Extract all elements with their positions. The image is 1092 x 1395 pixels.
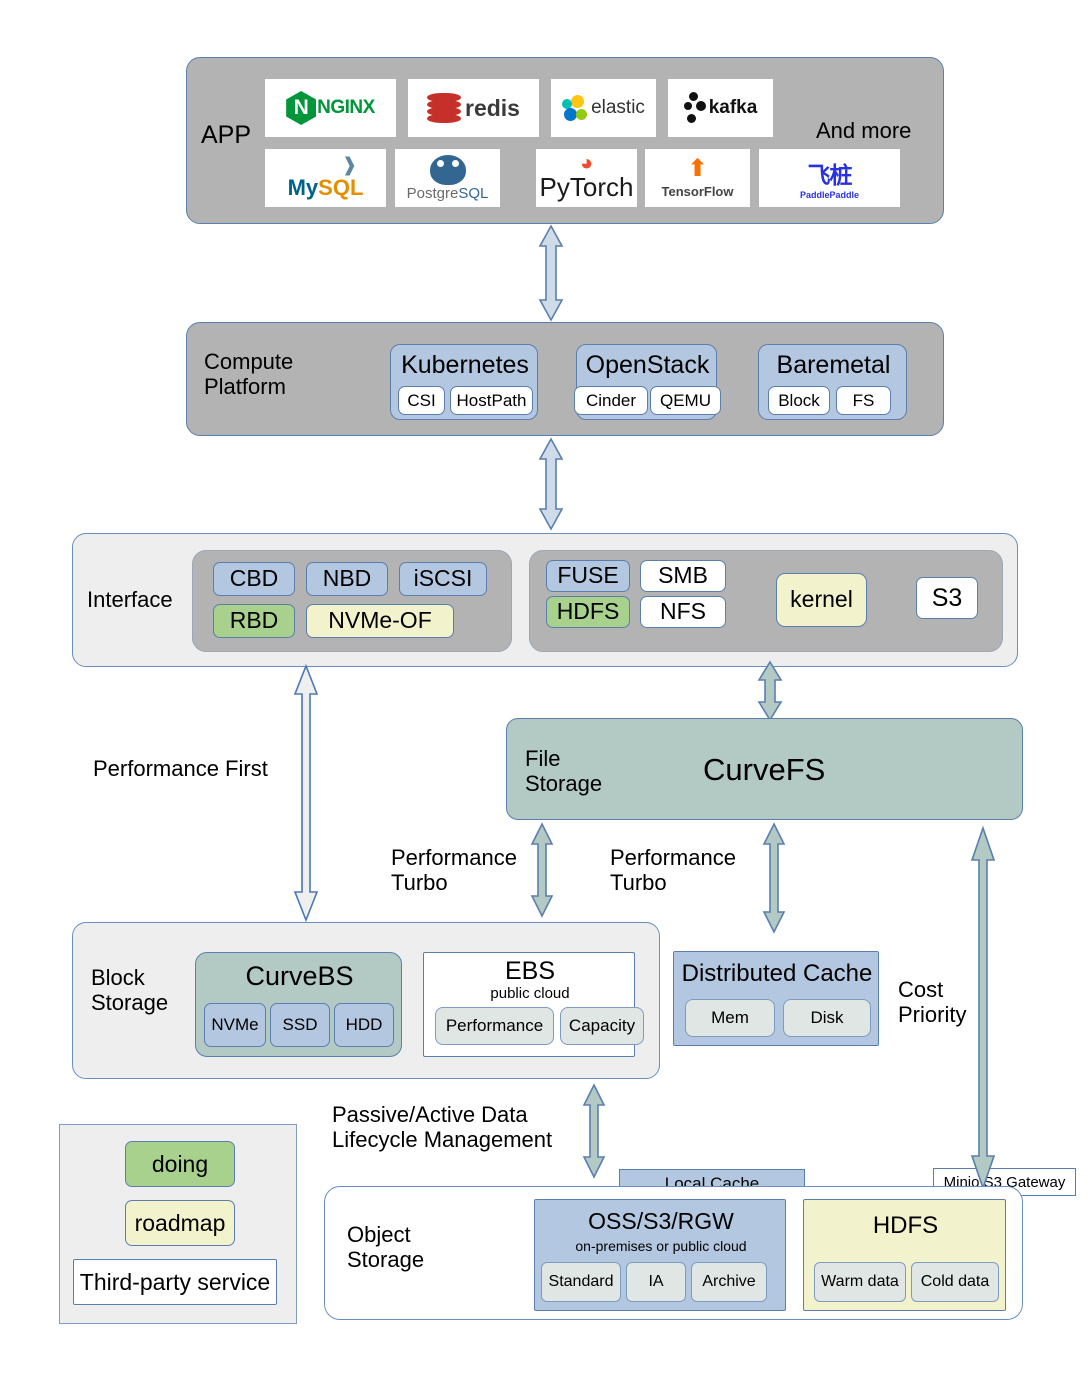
paddlepaddle-icon: 飞桩	[808, 156, 852, 190]
tensorflow-logo-text: TensorFlow	[662, 184, 734, 199]
block-storage-label-line2: Storage	[91, 990, 168, 1015]
interface-s3[interactable]: S3	[916, 577, 978, 619]
distributed-cache-title: Distributed Cache	[674, 958, 880, 990]
performance-turbo-left-line2: Turbo	[391, 871, 517, 896]
distributed-cache-child-mem[interactable]: Mem	[685, 999, 775, 1037]
nginx-logo-tile: N NGINX	[265, 79, 396, 137]
postgresql-logo-tile: PostgreSQL	[395, 149, 500, 207]
performance-turbo-right-label: Performance Turbo	[610, 846, 736, 895]
arrow-compute-interface	[538, 437, 564, 531]
curvebs-child-ssd[interactable]: SSD	[270, 1003, 330, 1047]
postgresql-logo-text: PostgreSQL	[407, 185, 489, 202]
object-storage-label-line2: Storage	[347, 1247, 424, 1272]
interface-fuse[interactable]: FUSE	[546, 560, 630, 592]
file-storage-panel: File Storage CurveFS	[506, 718, 1023, 820]
hdfs-child-cold-data[interactable]: Cold data	[911, 1262, 999, 1302]
block-storage-label: Block Storage	[91, 965, 168, 1016]
legend-panel: doing roadmap Third-party service	[59, 1124, 297, 1324]
platform-openstack-child-cinder[interactable]: Cinder	[574, 386, 648, 415]
pytorch-flame-icon: ◕	[580, 153, 593, 173]
platform-kubernetes-child-csi[interactable]: CSI	[398, 386, 445, 415]
cost-priority-label: Cost Priority	[898, 978, 966, 1027]
interface-kernel[interactable]: kernel	[776, 573, 867, 627]
legend-item-third-party: Third-party service	[73, 1259, 277, 1305]
ebs-subtitle: public cloud	[424, 984, 636, 1002]
interface-hdfs[interactable]: HDFS	[546, 596, 630, 628]
arrow-performance-turbo-right	[762, 822, 786, 934]
oss-s3-rgw-subtitle: on-premises or public cloud	[535, 1236, 787, 1256]
platform-baremetal-child-fs[interactable]: FS	[836, 386, 891, 415]
interface-block-group: CBD NBD iSCSI RBD NVMe-OF	[192, 550, 512, 652]
elastic-logo-text: elastic	[591, 97, 645, 119]
postgresql-elephant-icon	[430, 155, 466, 185]
app-layer-panel: APP N NGINX redis elastic	[186, 57, 944, 224]
cost-priority-line1: Cost	[898, 978, 966, 1003]
ebs-child-capacity[interactable]: Capacity	[560, 1007, 644, 1045]
object-storage-label: Object Storage	[347, 1222, 424, 1273]
interface-cbd[interactable]: CBD	[213, 562, 295, 596]
and-more-label: And more	[816, 118, 911, 144]
compute-platform-label: Compute Platform	[204, 349, 293, 400]
arrow-app-compute	[538, 224, 564, 322]
arrow-performance-first	[293, 664, 319, 922]
tensorflow-logo-tile: ⬆ TensorFlow	[645, 149, 750, 207]
interface-label: Interface	[87, 587, 173, 612]
block-storage-label-line1: Block	[91, 965, 168, 990]
legend-item-doing: doing	[125, 1141, 235, 1187]
curvebs-title: CurveBS	[196, 959, 403, 993]
ebs-box[interactable]: EBS public cloud Performance Capacity	[423, 952, 635, 1057]
platform-baremetal[interactable]: Baremetal Block FS	[758, 344, 907, 420]
ebs-title: EBS	[424, 956, 636, 986]
hdfs-child-warm-data[interactable]: Warm data	[814, 1262, 906, 1302]
interface-nfs[interactable]: NFS	[640, 596, 726, 628]
paddlepaddle-logo-text: PaddlePaddle	[800, 190, 859, 200]
interface-smb[interactable]: SMB	[640, 560, 726, 592]
legend-item-roadmap: roadmap	[125, 1200, 235, 1246]
data-lifecycle-label: Passive/Active Data Lifecycle Management	[332, 1103, 552, 1152]
platform-openstack-child-qemu[interactable]: QEMU	[650, 386, 721, 415]
object-storage-label-line1: Object	[347, 1222, 424, 1247]
pytorch-logo-text: PyTorch	[540, 172, 634, 203]
kafka-logo-tile: kafka	[668, 79, 773, 137]
kafka-icon	[684, 92, 706, 124]
oss-s3-rgw-box[interactable]: OSS/S3/RGW on-premises or public cloud S…	[534, 1199, 786, 1311]
distributed-cache-child-disk[interactable]: Disk	[783, 999, 871, 1037]
interface-nbd[interactable]: NBD	[306, 562, 388, 596]
arrow-interface-curvefs	[757, 660, 783, 722]
performance-turbo-right-line1: Performance	[610, 846, 736, 871]
compute-platform-label-line1: Compute	[204, 349, 293, 374]
platform-kubernetes[interactable]: Kubernetes CSI HostPath	[390, 344, 538, 420]
hdfs-title: HDFS	[804, 1210, 1007, 1242]
file-storage-label: File Storage	[525, 746, 602, 797]
mysql-logo-tile: ❱ MySQL	[265, 149, 386, 207]
cost-priority-line2: Priority	[898, 1003, 966, 1028]
platform-kubernetes-child-hostpath[interactable]: HostPath	[450, 386, 533, 415]
hdfs-box[interactable]: HDFS Warm data Cold data	[803, 1199, 1006, 1311]
oss-child-archive[interactable]: Archive	[691, 1262, 767, 1302]
platform-openstack[interactable]: OpenStack Cinder QEMU	[576, 344, 717, 420]
performance-turbo-right-line2: Turbo	[610, 871, 736, 896]
interface-iscsi[interactable]: iSCSI	[399, 562, 487, 596]
pytorch-logo-tile: ◕ PyTorch	[536, 149, 637, 207]
platform-baremetal-child-block[interactable]: Block	[768, 386, 830, 415]
performance-turbo-left-label: Performance Turbo	[391, 846, 517, 895]
file-storage-label-line1: File	[525, 746, 602, 771]
tensorflow-icon: ⬆	[687, 157, 707, 181]
redis-logo-text: redis	[465, 95, 520, 122]
arrow-cost-priority	[970, 826, 996, 1190]
block-storage-panel: Block Storage CurveBS NVMe SSD HDD EBS p…	[72, 922, 660, 1079]
performance-turbo-left-line1: Performance	[391, 846, 517, 871]
kafka-logo-text: kafka	[709, 97, 758, 119]
interface-nvme-of[interactable]: NVMe-OF	[306, 604, 454, 638]
arrow-data-lifecycle	[582, 1083, 606, 1179]
nginx-logo-text: NGINX	[317, 97, 375, 119]
data-lifecycle-line1: Passive/Active Data	[332, 1103, 552, 1128]
mysql-logo-text: MySQL	[288, 175, 364, 201]
nginx-icon: N	[286, 91, 316, 125]
oss-s3-rgw-title: OSS/S3/RGW	[535, 1206, 787, 1236]
curvefs-title: CurveFS	[703, 752, 825, 788]
curvebs-box[interactable]: CurveBS NVMe SSD HDD	[195, 952, 402, 1057]
interface-panel: Interface CBD NBD iSCSI RBD NVMe-OF FUSE…	[72, 533, 1018, 667]
data-lifecycle-line2: Lifecycle Management	[332, 1128, 552, 1153]
ebs-child-performance[interactable]: Performance	[435, 1007, 554, 1045]
object-storage-panel: Object Storage OSS/S3/RGW on-premises or…	[324, 1186, 1023, 1320]
curvebs-child-hdd[interactable]: HDD	[334, 1003, 394, 1047]
elastic-logo-tile: elastic	[551, 79, 656, 137]
platform-baremetal-title: Baremetal	[759, 350, 908, 380]
distributed-cache-box[interactable]: Distributed Cache Mem Disk	[673, 951, 879, 1046]
platform-kubernetes-title: Kubernetes	[391, 350, 539, 380]
paddlepaddle-logo-tile: 飞桩 PaddlePaddle	[759, 149, 900, 207]
compute-platform-panel: Compute Platform Kubernetes CSI HostPath…	[186, 322, 944, 436]
mysql-dolphin-icon: ❱	[341, 156, 357, 175]
redis-icon	[427, 93, 461, 123]
performance-first-label: Performance First	[93, 757, 268, 782]
oss-child-ia[interactable]: IA	[626, 1262, 686, 1302]
interface-rbd[interactable]: RBD	[213, 604, 295, 638]
arrow-performance-turbo-left	[530, 822, 554, 918]
redis-logo-tile: redis	[408, 79, 539, 137]
oss-child-standard[interactable]: Standard	[541, 1262, 621, 1302]
interface-file-group: FUSE SMB HDFS NFS kernel S3	[529, 550, 1003, 652]
compute-platform-label-line2: Platform	[204, 374, 293, 399]
file-storage-label-line2: Storage	[525, 771, 602, 796]
app-layer-label: APP	[201, 121, 251, 150]
curvebs-child-nvme[interactable]: NVMe	[204, 1003, 266, 1047]
platform-openstack-title: OpenStack	[577, 350, 718, 380]
elastic-icon	[562, 95, 588, 121]
